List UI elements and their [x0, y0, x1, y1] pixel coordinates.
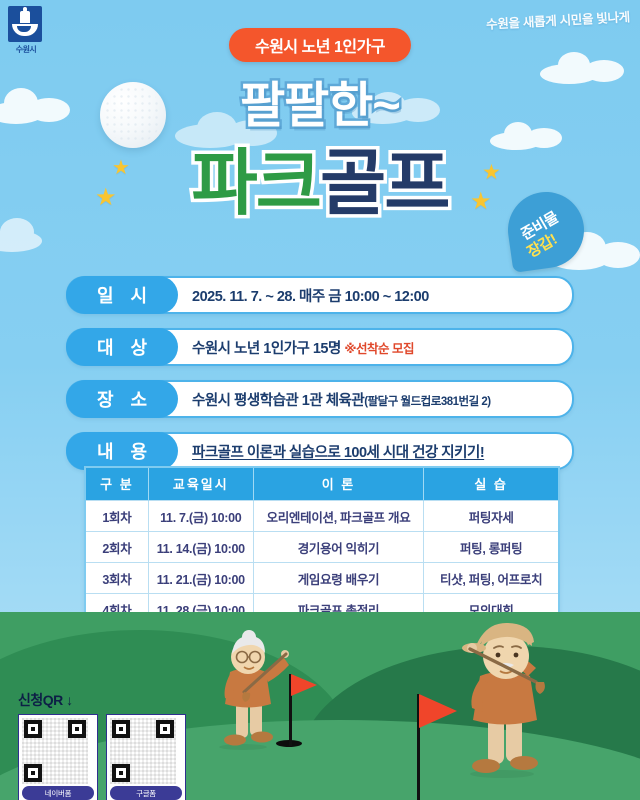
info-value-place-address: (팔달구 월드컵로381번길 2) [364, 396, 490, 408]
hero-title-line1: 팔팔한~ [0, 66, 640, 137]
table-header-practice: 실 습 [424, 468, 558, 501]
table-header-row: 구 분 교육일시 이 론 실 습 [86, 468, 558, 501]
cell-datetime: 11. 14.(금) 10:00 [148, 532, 253, 563]
hero-title-golf: 골프 [320, 144, 448, 224]
info-row-place: 장 소 수원시 평생학습관 1관 체육관(팔달구 월드컵로381번길 2) [66, 380, 574, 418]
city-logo-plate [8, 6, 42, 42]
table-row: 2회차 11. 14.(금) 10:00 경기용어 익히기 퍼팅, 롱퍼팅 [86, 532, 558, 563]
info-row-target: 대 상 수원시 노년 1인가구 15명 ※선착순 모집 [66, 328, 574, 366]
cell-session: 1회차 [86, 501, 148, 532]
qr-label-google: 구글폼 [110, 786, 182, 800]
qr-label-naver: 네이버폼 [22, 786, 94, 800]
suwon-city-logo: 수원시 [8, 6, 44, 56]
info-row-date: 일 시 2025. 11. 7. ~ 28. 매주 금 10:00 ~ 12:0… [66, 276, 574, 314]
city-logo-mark-icon [12, 11, 38, 37]
qr-list: 네이버폼 구글폼 [18, 714, 186, 800]
table-header-datetime: 교육일시 [148, 468, 253, 501]
qr-section-title: 신청QR ↓ [18, 690, 186, 710]
hero-title-park: 파크 [192, 144, 320, 224]
cell-datetime: 11. 21.(금) 10:00 [148, 563, 253, 594]
info-value-date-text: 2025. 11. 7. ~ 28. 매주 금 10:00 ~ 12:00 [192, 289, 429, 305]
info-row-content: 내 용 파크골프 이론과 실습으로 100세 시대 건강 지키기! [66, 432, 574, 470]
poster-root: 수원시 수원을 새롭게 시민을 빛나게 수원시 노년 1인가구 ★ ★ ★ ★ … [0, 0, 640, 800]
city-logo-label: 수원시 [8, 44, 44, 55]
info-label-place: 장 소 [66, 380, 178, 418]
table-header-session: 구 분 [86, 468, 148, 501]
info-value-date: 2025. 11. 7. ~ 28. 매주 금 10:00 ~ 12:00 [192, 285, 429, 306]
senior-woman-golfer-illustration [200, 630, 296, 750]
cell-datetime: 11. 7.(금) 10:00 [148, 501, 253, 532]
info-value-content-text: 파크골프 이론과 실습으로 100세 시대 건강 지키기! [192, 445, 484, 461]
cell-theory: 오리엔테이션, 파크골프 개요 [253, 501, 424, 532]
qr-card-google[interactable]: 구글폼 [106, 714, 186, 800]
senior-man-golfer-illustration [440, 618, 566, 778]
info-value-content: 파크골프 이론과 실습으로 100세 시대 건강 지키기! [192, 441, 484, 462]
info-label-target: 대 상 [66, 328, 178, 366]
cell-theory: 경기용어 익히기 [253, 532, 424, 563]
info-label-content: 내 용 [66, 432, 178, 470]
info-value-target: 수원시 노년 1인가구 15명 ※선착순 모집 [192, 337, 414, 358]
table-row: 3회차 11. 21.(금) 10:00 게임요령 배우기 티샷, 퍼팅, 어프… [86, 563, 558, 594]
info-rows: 일 시 2025. 11. 7. ~ 28. 매주 금 10:00 ~ 12:0… [66, 276, 574, 484]
cell-practice: 티샷, 퍼팅, 어프로치 [424, 563, 558, 594]
table-header-theory: 이 론 [253, 468, 424, 501]
cell-session: 2회차 [86, 532, 148, 563]
info-value-place-text: 수원시 평생학습관 1관 체육관 [192, 393, 364, 409]
qr-card-naver[interactable]: 네이버폼 [18, 714, 98, 800]
info-label-date: 일 시 [66, 276, 178, 314]
table-row: 1회차 11. 7.(금) 10:00 오리엔테이션, 파크골프 개요 퍼팅자세 [86, 501, 558, 532]
info-value-target-note: ※선착순 모집 [344, 342, 414, 356]
curriculum-table: 구 분 교육일시 이 론 실 습 1회차 11. 7.(금) 10:00 오리엔… [86, 468, 558, 624]
cell-practice: 퍼팅, 롱퍼팅 [424, 532, 558, 563]
cell-theory: 게임요령 배우기 [253, 563, 424, 594]
curriculum-table-wrapper: 구 분 교육일시 이 론 실 습 1회차 11. 7.(금) 10:00 오리엔… [84, 466, 560, 626]
cell-practice: 퍼팅자세 [424, 501, 558, 532]
target-audience-pill: 수원시 노년 1인가구 [229, 28, 411, 62]
cell-session: 3회차 [86, 563, 148, 594]
qr-code-google-icon[interactable] [110, 718, 176, 784]
info-value-target-text: 수원시 노년 1인가구 15명 [192, 341, 341, 357]
application-qr-section: 신청QR ↓ 네이버폼 구글폼 [18, 690, 186, 800]
qr-code-naver-icon[interactable] [22, 718, 88, 784]
info-value-place: 수원시 평생학습관 1관 체육관(팔달구 월드컵로381번길 2) [192, 389, 491, 410]
